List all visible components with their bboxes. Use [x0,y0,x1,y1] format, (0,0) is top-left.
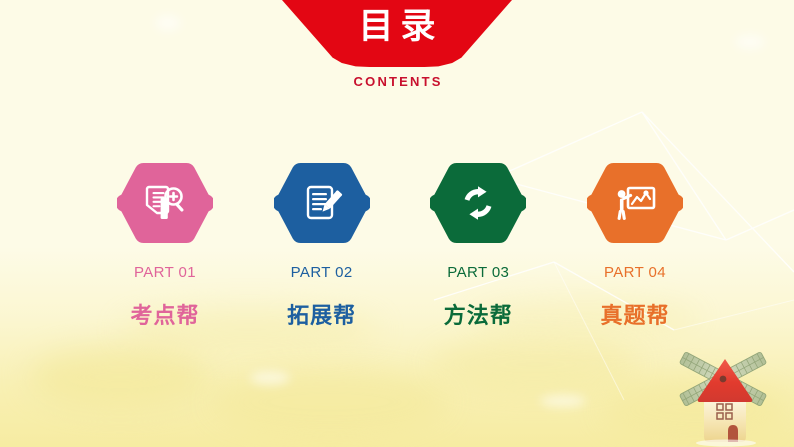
slide-canvas: 目录 CONTENTS [0,0,794,447]
page-title: 目录 [282,8,512,47]
page-subtitle: CONTENTS [351,74,442,89]
contents-item-part-03[interactable]: PART 03 方法帮 [403,160,553,330]
background-texture-blotch [210,367,450,437]
hexagon-badge-part-02[interactable] [274,160,370,246]
contents-item-part-04[interactable]: PART 04 真题帮 [560,160,710,330]
background-texture-blotch [430,337,640,392]
contents-parts-row: PART 01 考点帮 [90,160,710,330]
hexagon-badge-part-01[interactable] [117,160,213,246]
part-name-label: 方法帮 [444,298,513,330]
document-magnifier-icon [142,180,188,226]
background-speck [735,35,765,49]
part-name-label: 考点帮 [130,298,199,330]
refresh-arrows-icon [455,180,501,226]
windmill-house-illustration [660,337,790,447]
hexagon-badge-part-04[interactable] [587,160,683,246]
contents-item-part-02[interactable]: PART 02 拓展帮 [247,160,397,330]
hexagon-badge-part-03[interactable] [430,160,526,246]
part-number-label: PART 02 [291,264,353,281]
contents-item-part-01[interactable]: PART 01 考点帮 [90,160,240,330]
part-number-label: PART 03 [447,264,509,281]
background-texture-blotch [30,347,210,407]
document-pencil-icon [299,180,345,226]
part-name-label: 真题帮 [600,298,669,330]
part-name-label: 拓展帮 [287,298,356,330]
background-speck [250,371,290,385]
part-number-label: PART 01 [134,264,196,281]
contents-banner: 目录 [282,0,512,67]
background-speck [155,15,181,31]
part-number-label: PART 04 [604,264,666,281]
presenter-board-icon [612,180,658,226]
background-speck [540,395,586,407]
